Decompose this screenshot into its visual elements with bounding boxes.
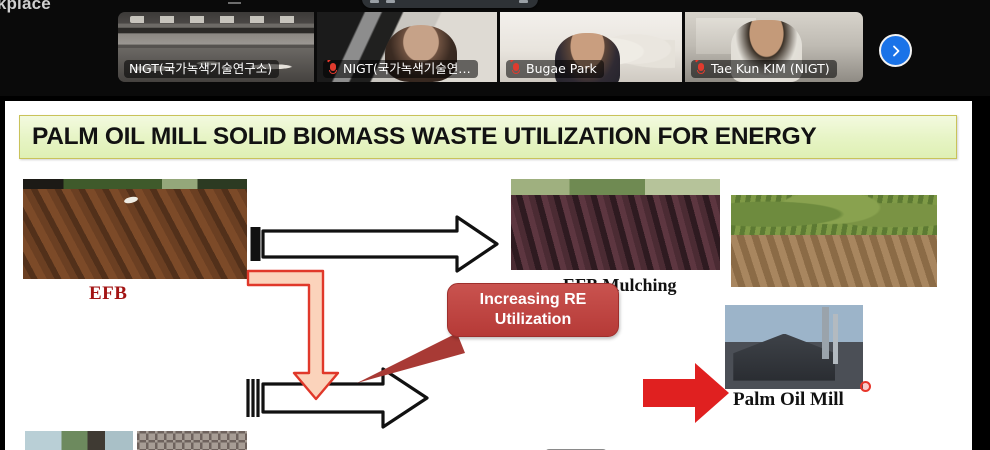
red-cursor-dot (860, 381, 871, 392)
ceiling-lights-decor (130, 16, 303, 23)
red-bent-arrow-down (248, 271, 338, 399)
callout-pointer-tail (357, 333, 465, 383)
callout-line-2: Utilization (495, 310, 571, 330)
participant-name-label: NIGT(국가녹색기술연… (323, 60, 478, 78)
participant-name-label: NIGT(국가녹색기술연구소) (124, 60, 279, 78)
next-participants-button[interactable] (879, 34, 912, 67)
black-outline-arrow-right-bottom (248, 369, 427, 427)
participant-tile[interactable]: Tae Kun KIM (NIGT) (685, 12, 863, 82)
participant-tile[interactable]: NIGT(국가녹색기술연구소) (118, 12, 314, 82)
participant-name-label: Bugae Park (506, 60, 604, 78)
red-solid-arrow-right (643, 363, 729, 423)
participant-name: NIGT(국가녹색기술연구소) (129, 61, 272, 76)
mic-muted-icon (511, 62, 522, 76)
efb-mulching-photo (511, 179, 720, 270)
minimize-icon[interactable] (228, 2, 241, 4)
participant-name: Bugae Park (526, 61, 597, 76)
participant-tile[interactable]: NIGT(국가녹색기술연… (317, 12, 497, 82)
palm-oil-mill-photo (725, 305, 863, 389)
fiber-pile-photo (25, 431, 133, 450)
toolbar-more-icon[interactable] (519, 0, 528, 3)
page-title: PALM OIL MILL SOLID BIOMASS WASTE UTILIZ… (20, 123, 816, 151)
efb-label: EFB (89, 283, 127, 305)
palm-oil-mill-label: Palm Oil Mill (733, 389, 844, 411)
participant-filmstrip[interactable]: NIGT(국가녹색기술연구소) NIGT(국가녹색기술연… (118, 12, 863, 82)
shared-screen-frame: PALM OIL MILL SOLID BIOMASS WASTE UTILIZ… (0, 97, 990, 450)
participant-name: Tae Kun KIM (NIGT) (711, 61, 830, 76)
screen-share-window: rkplace NIGT(국가녹색기술연구소) (0, 0, 990, 450)
callout-line-1: Increasing RE (480, 290, 587, 310)
biomass-boiler-illustration (437, 437, 653, 450)
participant-name-label: Tae Kun KIM (NIGT) (691, 60, 837, 78)
participant-tile[interactable]: Bugae Park (500, 12, 682, 82)
palm-tree-row-photo (731, 195, 937, 287)
increasing-re-utilization-callout: Increasing RE Utilization (447, 283, 619, 337)
toolbar-controls-icon[interactable] (370, 0, 395, 3)
meeting-top-bar: rkplace NIGT(국가녹색기술연구소) (0, 0, 990, 96)
meeting-toolbar[interactable] (362, 0, 538, 8)
shell-closeup-photo (137, 431, 247, 450)
black-outline-arrow-right-top (253, 217, 497, 271)
efb-pile-photo (23, 179, 247, 279)
mic-muted-icon (696, 62, 707, 76)
app-title: rkplace (0, 0, 51, 14)
presentation-slide: PALM OIL MILL SOLID BIOMASS WASTE UTILIZ… (5, 101, 972, 450)
participant-name: NIGT(국가녹색기술연… (343, 61, 471, 76)
mic-muted-icon (328, 62, 339, 76)
chevron-right-icon (889, 44, 903, 58)
slide-title-box: PALM OIL MILL SOLID BIOMASS WASTE UTILIZ… (19, 115, 957, 159)
